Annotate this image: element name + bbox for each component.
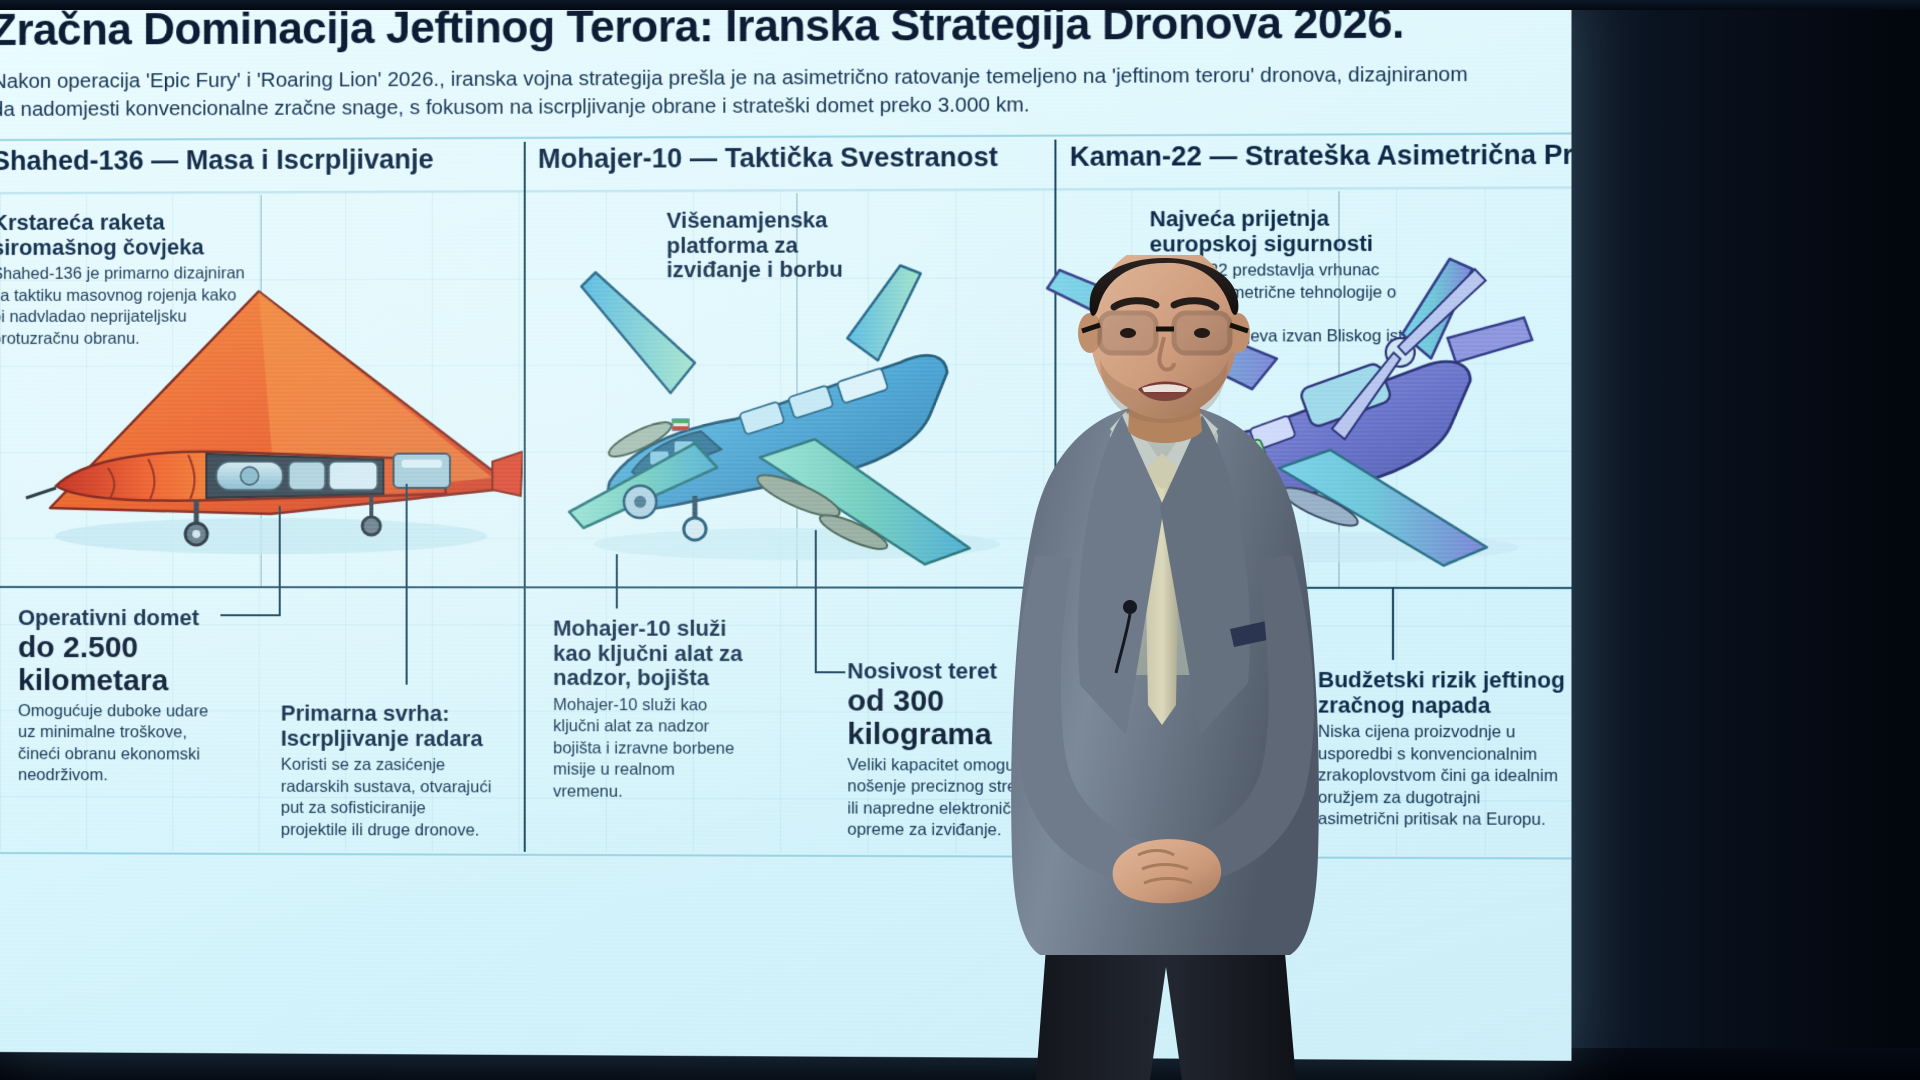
studio-top-edge: [0, 0, 1920, 10]
leader-stem-mohajer-role: [616, 554, 618, 608]
leader-stem-mohajer-payload: [815, 530, 817, 671]
callout-shahed-range-value: do 2.500 kilometara: [18, 631, 269, 697]
callout-shahed-range-body: Omogućuje duboke udare uz minimalne troš…: [18, 701, 269, 787]
leader-line-mohajer-payload: [815, 671, 846, 673]
callout-shahed-purpose: Primarna svrha: Iscrpljivanje radara Kor…: [281, 702, 523, 842]
callout-mohajer-role-kicker: Mohajer-10 služi kao ključni alat za nad…: [553, 617, 766, 692]
column-divider-1: [524, 142, 526, 852]
leader-stem-shahed-purpose: [406, 484, 408, 685]
column-header-shahed: Shahed-136 — Masa i Iscrpljivanje: [0, 144, 434, 177]
studio-right-edge: [1540, 0, 1920, 1080]
page-subtitle: Nakon operacija 'Epic Fury' i 'Roaring L…: [0, 60, 1562, 124]
page-subtitle-line-2: da nadomjesti konvencionalne zračne snag…: [0, 89, 1562, 125]
leader-stem-shahed-range: [279, 506, 281, 616]
shahed-136-drone-illustration: [20, 254, 523, 576]
rule-under-subtitle: [0, 132, 1571, 140]
callout-mohajer-role-body: Mohajer-10 služi kao ključni alat za nad…: [553, 695, 766, 803]
news-presenter: [930, 255, 1400, 1080]
leader-line-shahed-range: [220, 614, 280, 616]
callout-shahed-top-kicker: Krstareća raketa siromašnog čovjeka: [0, 210, 268, 260]
broadcast-frame: Zračna Dominacija Jeftinog Terora: Irans…: [0, 0, 1920, 1080]
lapel-microphone: [1123, 600, 1137, 614]
callout-mohajer-role: Mohajer-10 služi kao ključni alat za nad…: [553, 617, 766, 804]
column-header-kaman: Kaman-22 — Strateška Asimetrična Prijetn…: [1070, 139, 1572, 173]
callout-shahed-range-kicker: Operativni domet: [18, 606, 269, 631]
callout-shahed-purpose-kicker: Primarna svrha: Iscrpljivanje radara: [281, 702, 523, 752]
callout-shahed-purpose-body: Koristi se za zasićenje radarskih sustav…: [281, 755, 523, 842]
column-header-mohajer: Mohajer-10 — Taktička Svestranost: [538, 142, 998, 175]
callout-shahed-range: Operativni domet do 2.500 kilometara Omo…: [18, 606, 269, 787]
